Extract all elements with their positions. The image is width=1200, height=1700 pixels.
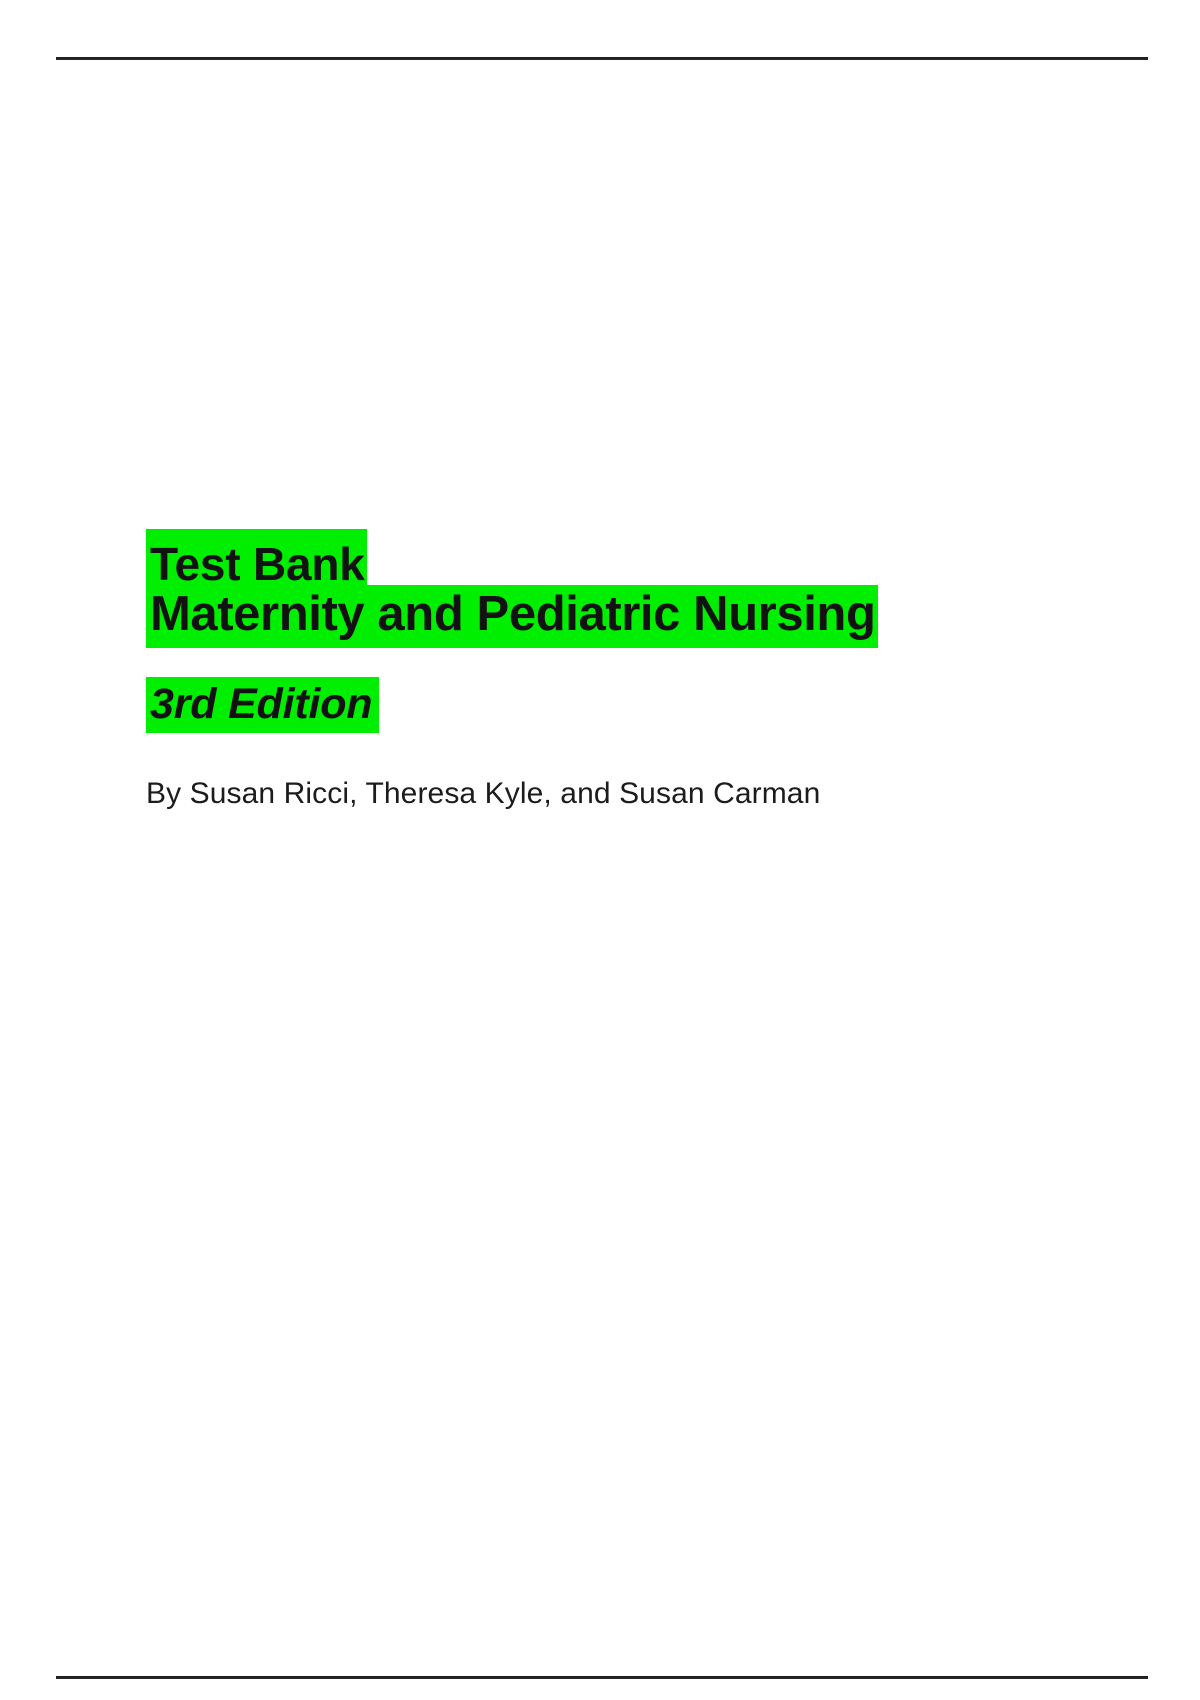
document-page: Test Bank Maternity and Pediatric Nursin… — [0, 0, 1200, 1700]
header-rule — [56, 57, 1148, 60]
footer-rule — [56, 1676, 1148, 1679]
title-edition-highlight: 3rd Edition — [146, 677, 379, 733]
authors-line: By Susan Ricci, Theresa Kyle, and Susan … — [146, 775, 1106, 813]
title-block: Test Bank Maternity and Pediatric Nursin… — [146, 536, 1106, 812]
title-line-edition: 3rd Edition — [146, 679, 1106, 731]
title-subject-highlight: Maternity and Pediatric Nursing — [146, 585, 878, 648]
title-line-subject: Maternity and Pediatric Nursing — [146, 586, 1106, 643]
title-line-test-bank: Test Bank — [146, 536, 1106, 592]
